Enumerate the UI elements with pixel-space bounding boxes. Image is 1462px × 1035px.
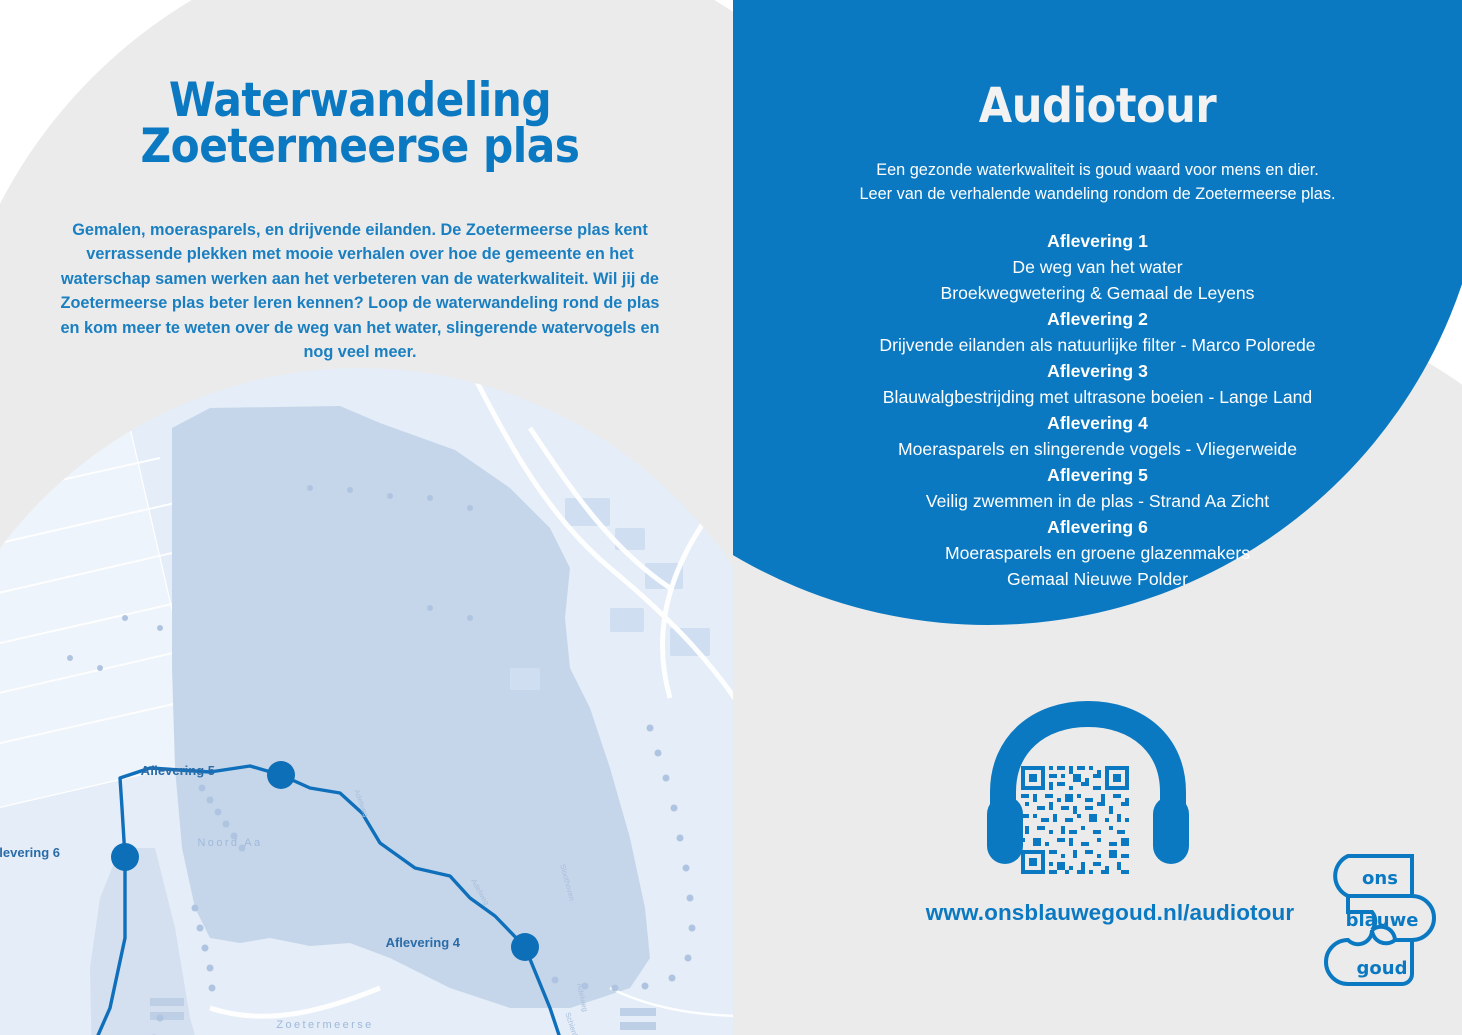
audiotour-qr-badge[interactable] bbox=[985, 700, 1235, 890]
logo-line-3: goud bbox=[1357, 958, 1408, 979]
episode-number: Aflevering 1 bbox=[753, 228, 1442, 254]
headphones-icon bbox=[985, 700, 1235, 890]
episode-number: Aflevering 3 bbox=[753, 358, 1442, 384]
map-water-label: Noord Aa bbox=[197, 837, 262, 849]
map-street-label: Sloothoven bbox=[558, 863, 576, 902]
map-labels-layer: Noord AaZoetermeersePlas De WijdseWeideA… bbox=[0, 368, 733, 1035]
episode-number: Aflevering 5 bbox=[753, 462, 1442, 488]
episode-number: Aflevering 2 bbox=[753, 306, 1442, 332]
episode-title: Broekwegwetering & Gemaal de Leyens bbox=[753, 280, 1442, 306]
route-marker[interactable] bbox=[511, 933, 539, 961]
map-street-label: Adelweg bbox=[469, 877, 491, 906]
episode-title: Drijvende eilanden als natuurlijke filte… bbox=[753, 332, 1442, 358]
logo-icon: ons blauwe goud bbox=[1320, 852, 1440, 992]
logo-line-1: ons bbox=[1362, 868, 1398, 889]
route-marker[interactable] bbox=[267, 761, 295, 789]
audiotour-subtitle-line-1: Een gezonde waterkwaliteit is goud waard… bbox=[793, 159, 1402, 183]
audiotour-subtitle: Een gezonde waterkwaliteit is goud waard… bbox=[793, 159, 1402, 207]
ons-blauwe-goud-logo[interactable]: ons blauwe goud bbox=[1320, 852, 1440, 992]
episode-number: Aflevering 4 bbox=[753, 410, 1442, 436]
route-marker-label: Aflevering 6 bbox=[0, 845, 60, 860]
logo-line-2: blauwe bbox=[1346, 910, 1419, 931]
poster-stage: Noord AaZoetermeersePlas De WijdseWeideA… bbox=[0, 0, 1462, 1035]
episode-title: Veilig zwemmen in de plas - Strand Aa Zi… bbox=[753, 488, 1442, 514]
audiotour-subtitle-line-2: Leer van de verhalende wandeling rondom … bbox=[793, 183, 1402, 207]
map-street-label: Adelweg bbox=[575, 982, 590, 1012]
title-line-1: Waterwandeling bbox=[40, 78, 680, 124]
episode-title: Moerasparels en slingerende vogels - Vli… bbox=[753, 436, 1442, 462]
audiotour-heading: Audiotour bbox=[733, 82, 1462, 130]
blue-top-edge bbox=[733, 0, 1462, 10]
episode-title: Gemaal Nieuwe Polder bbox=[753, 566, 1442, 592]
route-map[interactable]: Noord AaZoetermeersePlas De WijdseWeideA… bbox=[0, 368, 733, 1035]
route-marker[interactable] bbox=[111, 843, 139, 871]
page-title: Waterwandeling Zoetermeerse plas bbox=[40, 78, 680, 170]
title-line-2: Zoetermeerse plas bbox=[40, 124, 680, 170]
episode-title: De weg van het water bbox=[753, 254, 1442, 280]
qr-code-icon bbox=[1021, 766, 1129, 874]
map-water-label: Zoetermeerse bbox=[276, 1019, 373, 1031]
route-marker-label: Aflevering 5 bbox=[141, 763, 215, 778]
intro-paragraph: Gemalen, moerasparels, en drijvende eila… bbox=[60, 218, 660, 365]
map-street-label: Schienke bbox=[563, 1011, 581, 1035]
episode-title: Moerasparels en groene glazenmakers bbox=[753, 540, 1442, 566]
route-marker-label: Aflevering 4 bbox=[386, 935, 461, 950]
episode-number: Aflevering 6 bbox=[753, 514, 1442, 540]
episode-title: Blauwalgbestrijding met ultrasone boeien… bbox=[753, 384, 1442, 410]
map-street-label: Adelweg bbox=[352, 788, 370, 818]
episode-list: Aflevering 1De weg van het waterBroekweg… bbox=[753, 228, 1442, 592]
audiotour-url[interactable]: www.onsblauwegoud.nl/audiotour bbox=[850, 900, 1370, 926]
left-panel: Noord AaZoetermeersePlas De WijdseWeideA… bbox=[0, 0, 733, 1035]
